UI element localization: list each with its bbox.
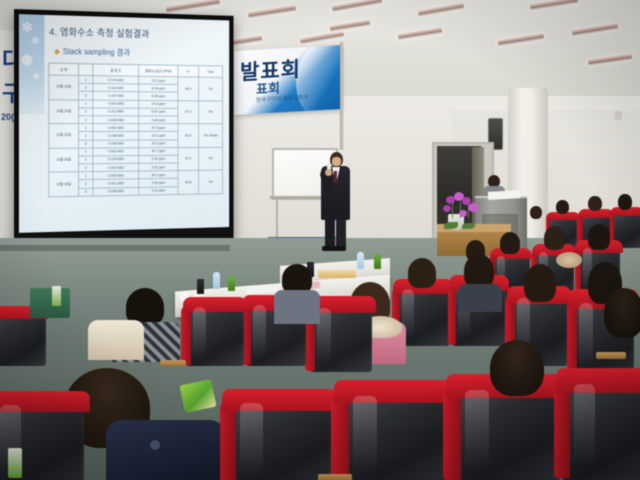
seat[interactable] xyxy=(186,302,244,366)
soda-can xyxy=(197,279,204,294)
jacket-logo xyxy=(150,440,160,450)
water-bottle xyxy=(357,252,364,269)
beige-jacket xyxy=(88,320,144,360)
orchid-bloom xyxy=(443,205,451,212)
snack-plate xyxy=(318,270,356,278)
presenter-leg xyxy=(336,218,346,248)
orchid-leaf xyxy=(462,223,475,229)
seat[interactable] xyxy=(0,310,46,366)
soda-can xyxy=(52,286,61,306)
presenter-shoes xyxy=(322,246,346,251)
armrest xyxy=(160,360,186,366)
soda-can xyxy=(8,448,22,478)
seat[interactable] xyxy=(228,396,332,480)
presenter-face xyxy=(332,157,341,166)
navy-jacket xyxy=(106,420,226,480)
seat[interactable] xyxy=(452,382,560,480)
soda-can xyxy=(228,276,235,291)
armrest xyxy=(318,474,352,480)
soda-can xyxy=(374,254,381,269)
green-board-panel xyxy=(30,288,70,318)
lectern-papers xyxy=(488,190,520,200)
orchid-leaf xyxy=(444,222,458,229)
orchid-bloom xyxy=(459,210,467,217)
presenter-necktie xyxy=(334,171,337,183)
seat[interactable] xyxy=(562,376,640,480)
presenter-hand xyxy=(325,169,332,176)
orchid-bloom xyxy=(468,203,479,212)
seat[interactable] xyxy=(340,388,448,480)
lecture-hall-photo: 대 구 20(금) 발표회 표회 한국구미대 환경공학과 ❄ ❄ ❅ ❄ 4. … xyxy=(0,0,640,480)
fur-hood-coat xyxy=(556,252,582,268)
presenter-leg xyxy=(325,218,335,248)
armrest xyxy=(596,352,626,359)
water-bottle xyxy=(213,272,220,289)
